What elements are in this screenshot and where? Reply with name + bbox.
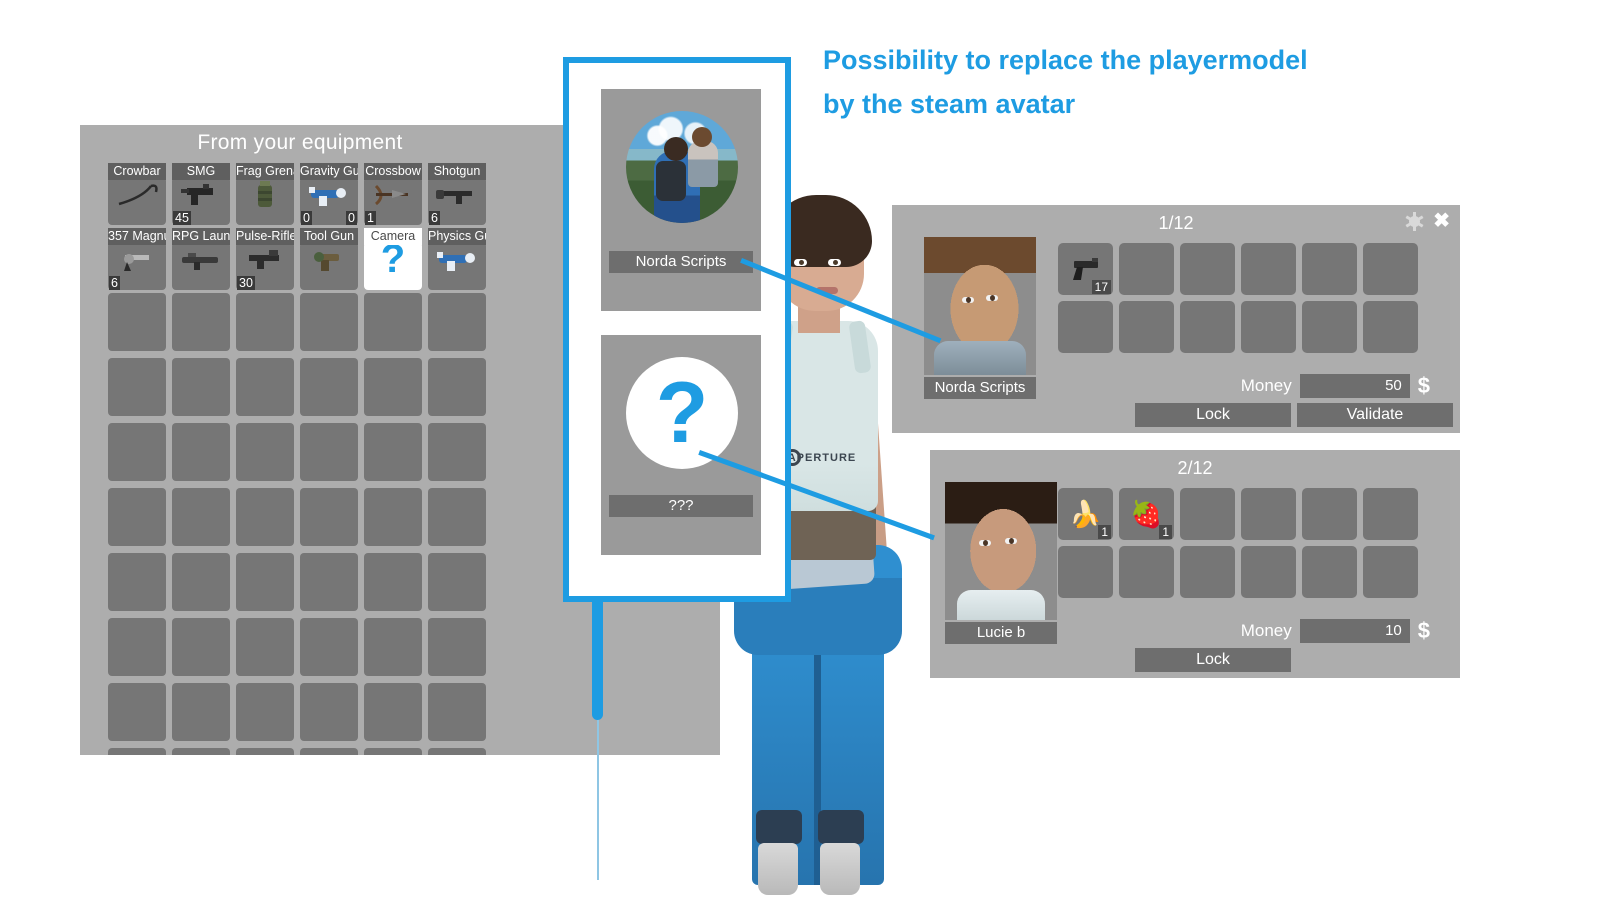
trade-panel-1: 1/12 ✖ Norda Scripts 17 Money 50 $ Lock … — [892, 205, 1460, 433]
equipment-slot-empty[interactable] — [236, 683, 294, 745]
avatar-card-name: Norda Scripts — [609, 251, 753, 273]
equipment-slot-empty[interactable] — [108, 358, 166, 420]
equipment-slot-label: Physics Gun — [428, 228, 486, 245]
money-input[interactable]: 10 — [1300, 619, 1410, 643]
question-mark-icon: ? — [364, 242, 422, 276]
equipment-slot-empty[interactable] — [108, 748, 166, 755]
ammo-count: 30 — [237, 276, 255, 290]
close-icon[interactable]: ✖ — [1433, 213, 1450, 230]
tool-gun-icon — [300, 242, 358, 276]
trade-slot-empty[interactable] — [1058, 546, 1113, 598]
equipment-slot-empty[interactable] — [108, 423, 166, 485]
item-count: 1 — [1098, 525, 1111, 539]
trade-slot-empty[interactable] — [1119, 301, 1174, 353]
player-eye-left — [794, 259, 807, 266]
equipment-slot-empty[interactable] — [172, 683, 230, 745]
player-eye-right — [828, 259, 841, 266]
equipment-slot-label: RPG Launcher — [172, 228, 230, 245]
smg-icon — [172, 177, 230, 211]
steam-avatar-callout: Norda Scripts ? ??? — [563, 57, 791, 602]
gravity-gun-icon — [300, 177, 358, 211]
equipment-item-grid[interactable]: CrowbarSMG45Frag GrenadeGravity Gun00Cro… — [108, 163, 493, 755]
ammo-count: 0 — [301, 211, 312, 225]
equipment-slot-label: Gravity Gun — [300, 163, 358, 180]
equipment-slot-empty[interactable] — [364, 293, 422, 355]
equipment-slot-label: Shotgun — [428, 163, 486, 180]
player-knee-pad-right — [818, 810, 864, 844]
equipment-slot-empty[interactable] — [108, 618, 166, 680]
trade-slot-empty[interactable] — [1302, 243, 1357, 295]
trade-slot-empty[interactable] — [1119, 546, 1174, 598]
equipment-slot-empty[interactable] — [428, 748, 486, 755]
equipment-slot-empty[interactable] — [108, 553, 166, 615]
player-boot-left — [758, 843, 798, 895]
trade-slot-empty[interactable] — [1058, 301, 1113, 353]
equipment-slot-empty[interactable] — [428, 618, 486, 680]
money-row: Money 50 $ — [1241, 373, 1430, 399]
trade-slot[interactable]: 🍓1 — [1119, 488, 1174, 540]
equipment-slot-empty[interactable] — [108, 293, 166, 355]
equipment-slot-empty[interactable] — [364, 618, 422, 680]
equipment-slot-empty[interactable] — [236, 293, 294, 355]
equipment-slot-empty[interactable] — [300, 488, 358, 550]
equipment-slot[interactable]: Physics Gun — [428, 228, 486, 290]
equipment-slot-empty[interactable] — [236, 358, 294, 420]
equipment-slot-label: SMG — [172, 163, 230, 180]
trade-item-grid[interactable]: 🍌1🍓1 — [1058, 488, 1418, 598]
equipment-slot-empty[interactable] — [172, 618, 230, 680]
equipment-slot-empty[interactable] — [236, 488, 294, 550]
trade-slot-empty[interactable] — [1363, 488, 1418, 540]
crossbow-icon — [364, 177, 422, 211]
question-mark-avatar-icon: ? — [626, 357, 738, 469]
validate-button[interactable]: Validate — [1297, 403, 1453, 427]
trade-slot[interactable]: 🍌1 — [1058, 488, 1113, 540]
equipment-slot-empty[interactable] — [236, 748, 294, 755]
equipment-slot-empty[interactable] — [300, 293, 358, 355]
equipment-slot-empty[interactable] — [300, 553, 358, 615]
item-count: 1 — [1159, 525, 1172, 539]
trade-panel-2: 2/12 Lucie b 🍌1🍓1 Money 10 $ Lock — [930, 450, 1460, 678]
avatar-card-unknown[interactable]: ? ??? — [601, 335, 761, 555]
trade-slot-empty[interactable] — [1119, 243, 1174, 295]
aperture-logo: APERTURE — [782, 445, 862, 471]
equipment-slot-empty[interactable] — [428, 423, 486, 485]
pulse-rifle-icon — [236, 242, 294, 276]
currency-symbol: $ — [1418, 618, 1430, 644]
equipment-slot-empty[interactable] — [236, 553, 294, 615]
crowbar-icon — [108, 177, 166, 211]
equipment-slot-empty[interactable] — [236, 423, 294, 485]
equipment-slot-empty[interactable] — [172, 553, 230, 615]
equipment-slot-empty[interactable] — [300, 618, 358, 680]
equipment-slot-empty[interactable] — [364, 488, 422, 550]
annotation-note: Possibility to replace the playermodel b… — [823, 38, 1323, 126]
equipment-slot[interactable]: Frag Grenade — [236, 163, 294, 225]
trade-slot-empty[interactable] — [1180, 243, 1235, 295]
lock-button[interactable]: Lock — [1135, 648, 1291, 672]
money-label: Money — [1241, 621, 1292, 641]
trade-slot-empty[interactable] — [1241, 488, 1296, 540]
equipment-slot-label: Pulse-Rifle — [236, 228, 294, 245]
equipment-slot-empty[interactable] — [108, 488, 166, 550]
player-brow-right — [826, 249, 846, 253]
ammo-count: 6 — [429, 211, 440, 225]
ammo-count: 6 — [109, 276, 120, 290]
trade-slot-empty[interactable] — [1241, 301, 1296, 353]
equipment-slot-empty[interactable] — [108, 683, 166, 745]
revolver-icon — [108, 242, 166, 276]
equipment-slot[interactable]: Pulse-Rifle30 — [236, 228, 294, 290]
equipment-slot-label: Tool Gun — [300, 228, 358, 245]
equipment-slot-empty[interactable] — [236, 618, 294, 680]
trade-slot-empty[interactable] — [1363, 546, 1418, 598]
equipment-slot-empty[interactable] — [364, 553, 422, 615]
equipment-slot[interactable]: Crowbar — [108, 163, 166, 225]
money-input[interactable]: 50 — [1300, 374, 1410, 398]
equipment-slot[interactable]: 357 Magnum6 — [108, 228, 166, 290]
equipment-slot-empty[interactable] — [364, 683, 422, 745]
money-row: Money 10 $ — [1241, 618, 1430, 644]
equipment-slot-label: 357 Magnum — [108, 228, 166, 245]
trade-slot-empty[interactable] — [1302, 301, 1357, 353]
equipment-slot-label: Crowbar — [108, 163, 166, 180]
equipment-slot[interactable]: Gravity Gun00 — [300, 163, 358, 225]
equipment-slot-empty[interactable] — [172, 748, 230, 755]
equipment-slot-empty[interactable] — [172, 423, 230, 485]
avatar-card-steam[interactable]: Norda Scripts — [601, 89, 761, 311]
equipment-slot-empty[interactable] — [300, 423, 358, 485]
ammo-count: 1 — [365, 211, 376, 225]
equipment-slot-label: Camera — [364, 228, 422, 245]
shotgun-icon — [428, 177, 486, 211]
trade-slot-empty[interactable] — [1180, 546, 1235, 598]
trade-slot-empty[interactable] — [1180, 301, 1235, 353]
equipment-slot-label: Frag Grenade — [236, 163, 294, 180]
equipment-slot-empty[interactable] — [172, 488, 230, 550]
trade-slot[interactable]: 17 — [1058, 243, 1113, 295]
equipment-slot-empty[interactable] — [172, 293, 230, 355]
steam-photo-avatar-icon — [626, 111, 738, 223]
trade-slot-empty[interactable] — [1241, 546, 1296, 598]
trade-slot-empty[interactable] — [1241, 243, 1296, 295]
trade-slot-empty[interactable] — [1302, 488, 1357, 540]
equipment-slot-empty[interactable] — [300, 683, 358, 745]
player-brow-left — [792, 249, 812, 253]
player-knee-pad-left — [756, 810, 802, 844]
trade-slot-empty[interactable] — [1363, 301, 1418, 353]
ammo-count-secondary: 0 — [346, 211, 357, 225]
equipment-slot[interactable]: SMG45 — [172, 163, 230, 225]
equipment-slot[interactable]: RPG Launcher — [172, 228, 230, 290]
equipment-slot-empty[interactable] — [364, 748, 422, 755]
physics-gun-icon — [428, 242, 486, 276]
equipment-slot[interactable]: Shotgun6 — [428, 163, 486, 225]
equipment-slot[interactable]: Tool Gun — [300, 228, 358, 290]
equipment-slot-empty[interactable] — [428, 488, 486, 550]
currency-symbol: $ — [1418, 373, 1430, 399]
trade-player-name: Lucie b — [945, 622, 1057, 644]
banana-icon: 🍌 — [1069, 499, 1101, 530]
equipment-slot-empty[interactable] — [364, 423, 422, 485]
trade-slot-empty[interactable] — [1180, 488, 1235, 540]
trade-player-avatar — [945, 482, 1057, 620]
trade-slot-empty[interactable] — [1302, 546, 1357, 598]
trade-player-name: Norda Scripts — [924, 377, 1036, 399]
item-count: 17 — [1092, 280, 1111, 294]
equipment-slot-empty[interactable] — [428, 683, 486, 745]
equipment-panel-title: From your equipment — [80, 131, 520, 155]
equipment-slot-empty[interactable] — [364, 358, 422, 420]
rpg-icon — [172, 242, 230, 276]
equipment-slot-empty[interactable] — [300, 748, 358, 755]
equipment-slot[interactable]: ?Camera — [364, 228, 422, 290]
equipment-slot[interactable]: Crossbow1 — [364, 163, 422, 225]
ammo-count: 45 — [173, 211, 191, 225]
avatar-card-name: ??? — [609, 495, 753, 517]
gear-icon[interactable] — [1406, 213, 1423, 230]
equipment-slot-empty[interactable] — [428, 358, 486, 420]
trade-panel-title: 2/12 — [930, 458, 1460, 479]
lock-button[interactable]: Lock — [1135, 403, 1291, 427]
equipment-slot-empty[interactable] — [300, 358, 358, 420]
trade-item-grid[interactable]: 17 — [1058, 243, 1418, 353]
trade-slot-empty[interactable] — [1363, 243, 1418, 295]
equipment-slot-empty[interactable] — [428, 553, 486, 615]
grenade-icon — [236, 177, 294, 211]
money-label: Money — [1241, 376, 1292, 396]
equipment-slot-label: Crossbow — [364, 163, 422, 180]
player-boot-right — [820, 843, 860, 895]
equipment-slot-empty[interactable] — [428, 293, 486, 355]
equipment-slot-empty[interactable] — [172, 358, 230, 420]
strawberry-icon: 🍓 — [1130, 499, 1162, 530]
trade-panel-title: 1/12 — [892, 213, 1460, 234]
trade-player-avatar — [924, 237, 1036, 375]
